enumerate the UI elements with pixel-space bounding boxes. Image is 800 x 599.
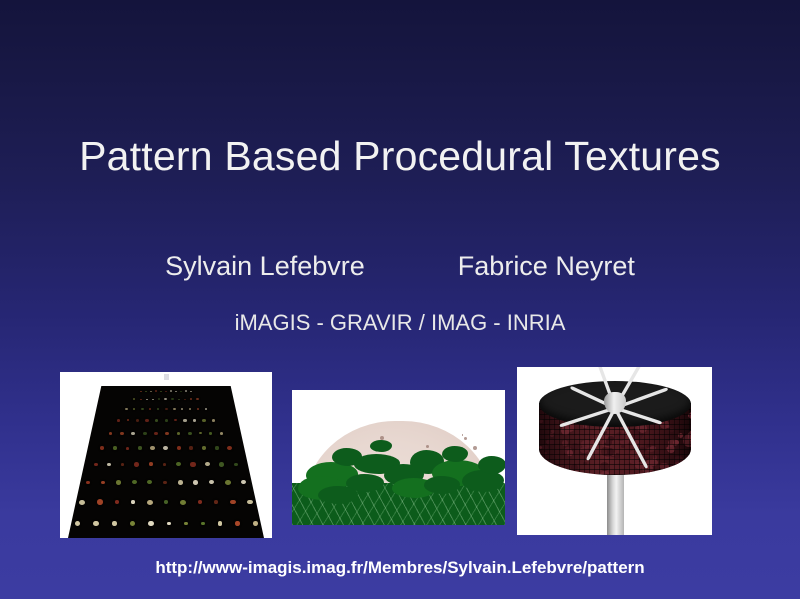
flower-blossom <box>75 521 81 527</box>
flower-row <box>68 498 264 506</box>
texture-blob <box>601 447 610 456</box>
texture-blob <box>603 439 607 443</box>
texture-blob <box>673 462 682 470</box>
flower-blossom <box>205 462 210 466</box>
texture-blob <box>603 471 607 474</box>
flower-blossom <box>155 390 157 392</box>
texture-blob <box>600 462 610 472</box>
flower-blossom <box>209 432 212 434</box>
flower-blossom <box>112 521 116 525</box>
flower-blossom <box>184 399 186 401</box>
vegetation-patch <box>442 446 468 462</box>
flower-blossom <box>212 419 215 422</box>
flower-blossom <box>134 462 139 466</box>
flower-blossom <box>220 432 223 435</box>
texture-blob <box>633 426 643 434</box>
flower-blossom <box>147 500 153 505</box>
texture-blob <box>688 430 691 442</box>
texture-blob <box>659 463 669 469</box>
flower-blossom <box>145 391 147 393</box>
flower-blossom <box>116 480 121 484</box>
texture-blob <box>609 452 616 457</box>
texture-blob <box>653 458 657 461</box>
texture-blob <box>583 462 587 466</box>
texture-blob <box>614 453 620 459</box>
flower-blossom <box>165 391 167 392</box>
texture-blob <box>621 445 625 448</box>
flower-blossom <box>163 446 168 450</box>
flower-blossom <box>234 463 238 466</box>
texture-blob <box>646 459 658 467</box>
texture-blob <box>539 446 542 449</box>
texture-blob <box>650 446 656 450</box>
flower-blossom <box>97 499 103 504</box>
flower-blossom <box>155 419 158 422</box>
texture-blob <box>668 444 673 447</box>
texture-blob <box>553 453 558 456</box>
flower-blossom <box>199 432 202 434</box>
flower-blossom <box>202 419 206 422</box>
flower-blossom <box>133 408 135 410</box>
texture-blob <box>647 447 655 453</box>
flower-blossom <box>189 408 192 410</box>
vegetation-patch <box>318 486 358 504</box>
texture-blob <box>667 471 670 474</box>
texture-blob <box>600 471 610 475</box>
flower-blossom <box>127 419 130 421</box>
flower-blossom <box>230 500 235 505</box>
texture-blob <box>544 452 548 456</box>
flower-blossom <box>175 391 177 393</box>
flower-blossom <box>146 399 148 401</box>
texture-blob <box>581 440 592 448</box>
flower-blossom <box>160 391 162 392</box>
texture-blob <box>646 444 652 448</box>
texture-blob <box>671 463 675 466</box>
texture-blob <box>666 425 669 428</box>
flower-blossom <box>178 480 183 484</box>
texture-blob <box>668 439 680 446</box>
flower-blossom <box>218 521 223 525</box>
flower-blossom <box>188 432 192 435</box>
texture-blob <box>561 426 570 435</box>
flower-blossom <box>190 391 192 393</box>
flower-blossom <box>94 463 98 466</box>
texture-blob <box>580 447 588 453</box>
flower-blossom <box>190 398 192 400</box>
presentation-slide: Pattern Based Procedural Textures Sylvai… <box>0 0 800 599</box>
slide-title: Pattern Based Procedural Textures <box>0 132 800 180</box>
flower-row <box>68 390 264 393</box>
flower-row <box>68 431 264 436</box>
flower-blossom <box>120 432 124 436</box>
flower-blossom <box>149 462 154 466</box>
flower-blossom <box>197 408 200 410</box>
flower-blossom <box>167 522 171 526</box>
flower-blossom <box>185 390 187 392</box>
flower-blossom <box>193 480 198 484</box>
texture-blob <box>675 461 679 465</box>
flower-blossom <box>247 500 253 505</box>
texture-blob <box>556 448 560 452</box>
texture-blob <box>571 464 578 471</box>
flower-blossom <box>147 480 152 484</box>
flower-blossom <box>176 462 181 466</box>
flower-blossom <box>235 521 239 525</box>
texture-blob <box>629 457 639 464</box>
flower-blossom <box>131 432 135 435</box>
texture-blob <box>539 419 543 422</box>
flower-blossom <box>140 399 142 401</box>
terrain-figure <box>292 390 505 525</box>
flower-blossom <box>177 432 180 435</box>
texture-blob <box>604 439 612 445</box>
author-name-second: Fabrice Neyret <box>458 251 635 281</box>
flower-blossom <box>180 391 182 392</box>
flower-blossom <box>157 408 160 410</box>
flower-blossom <box>227 446 232 450</box>
affiliation-line: iMAGIS - GRAVIR / IMAG - INRIA <box>0 310 800 336</box>
author-line: Sylvain Lefebvre Fabrice Neyret <box>0 250 800 282</box>
flower-blossom <box>117 419 121 422</box>
flower-blossom <box>154 432 157 435</box>
flower-ground-plane <box>68 386 264 538</box>
flower-blossom <box>165 419 168 422</box>
flower-blossom <box>205 408 208 410</box>
flower-blossom <box>214 500 218 504</box>
flower-blossom <box>193 419 196 421</box>
flower-blossom <box>150 391 152 393</box>
flower-blossom <box>150 446 155 450</box>
texture-blob <box>635 426 641 430</box>
flower-row <box>68 418 264 423</box>
flower-blossom <box>219 462 224 466</box>
flower-blossom <box>141 408 144 410</box>
flower-blossom <box>152 399 154 401</box>
flower-blossom <box>132 480 137 484</box>
texture-blob <box>605 453 611 457</box>
flower-blossom <box>143 432 147 436</box>
flower-blossom <box>149 408 151 410</box>
texture-blob <box>650 466 653 469</box>
flower-grid <box>68 386 264 538</box>
flower-blossom <box>171 398 174 400</box>
texture-blob <box>683 470 689 475</box>
flower-row <box>68 407 264 411</box>
flower-blossom <box>163 481 167 484</box>
texture-blob <box>608 436 615 441</box>
flower-blossom <box>133 398 135 400</box>
texture-blob <box>564 447 572 455</box>
project-url: http://www-imagis.imag.fr/Membres/Sylvai… <box>0 557 800 579</box>
flower-blossom <box>125 408 128 411</box>
texture-blob <box>669 428 673 432</box>
flower-blossom <box>174 419 177 421</box>
flower-blossom <box>196 398 199 400</box>
flower-blossom <box>86 481 90 484</box>
table-hub <box>604 392 626 414</box>
flower-blossom <box>138 446 142 449</box>
texture-blob <box>646 469 654 474</box>
flower-blossom <box>215 446 219 449</box>
flower-blossom <box>181 408 183 410</box>
flower-blossom <box>202 446 207 450</box>
texture-blob <box>688 412 690 419</box>
flower-blossom <box>178 399 180 401</box>
flower-row <box>68 445 264 451</box>
texture-blob <box>665 472 668 475</box>
flower-blossom <box>126 447 130 450</box>
flower-blossom <box>165 432 169 436</box>
flower-blossom <box>115 500 119 504</box>
flower-blossom <box>241 480 246 484</box>
texture-blob <box>546 439 555 445</box>
scene-marker-icon <box>164 374 169 380</box>
vegetation-patch <box>370 440 392 452</box>
texture-blob <box>653 455 658 460</box>
flower-blossom <box>131 500 135 504</box>
flower-blossom <box>145 419 149 422</box>
texture-blob <box>666 447 670 450</box>
flower-blossom <box>130 521 135 526</box>
texture-blob <box>631 460 635 462</box>
flower-blossom <box>163 463 167 466</box>
flower-blossom <box>253 521 258 526</box>
vegetation-patch <box>478 456 505 474</box>
texture-blob <box>567 450 572 456</box>
flower-blossom <box>164 398 167 400</box>
texture-blob <box>654 471 665 475</box>
flower-row <box>68 479 264 486</box>
flower-blossom <box>180 500 186 505</box>
flower-blossom <box>189 446 193 449</box>
flower-blossom <box>173 408 176 410</box>
flower-blossom <box>79 500 85 505</box>
flower-blossom <box>109 432 112 435</box>
flower-blossom <box>183 419 186 422</box>
texture-blob <box>568 469 579 475</box>
flower-blossom <box>165 408 168 411</box>
flower-blossom <box>201 522 205 526</box>
texture-blob <box>678 433 683 438</box>
texture-blob <box>683 434 691 447</box>
flower-row <box>68 519 264 527</box>
vegetation-patch <box>424 476 460 494</box>
texture-blob <box>550 433 554 437</box>
texture-blob <box>610 452 615 457</box>
texture-blob <box>603 452 611 459</box>
texture-blob <box>571 443 579 450</box>
flower-blossom <box>100 446 104 450</box>
texture-blob <box>602 439 610 448</box>
texture-blob <box>542 445 547 450</box>
texture-blob <box>673 456 684 467</box>
textured-table-figure <box>517 367 712 535</box>
flower-blossom <box>148 521 153 526</box>
flower-blossom <box>158 398 161 400</box>
author-name-first: Sylvain Lefebvre <box>165 251 365 281</box>
texture-blob <box>540 467 546 473</box>
flower-blossom <box>225 480 231 485</box>
flower-blossom <box>93 521 99 527</box>
flower-blossom <box>136 419 139 422</box>
texture-blob <box>615 432 626 441</box>
flower-blossom <box>101 481 106 485</box>
vegetation-layer <box>292 390 505 525</box>
flower-row <box>68 461 264 467</box>
flower-blossom <box>177 446 181 449</box>
flower-blossom <box>209 480 214 484</box>
flower-blossom <box>190 462 195 466</box>
flower-blossom <box>140 391 142 393</box>
flower-row <box>68 398 264 401</box>
flower-blossom <box>184 522 188 526</box>
texture-blob <box>565 447 574 455</box>
texture-blob <box>551 429 555 433</box>
flower-blossom <box>121 463 125 466</box>
texture-blob <box>607 448 614 456</box>
flower-blossom <box>198 500 202 504</box>
flower-field-figure <box>60 372 272 538</box>
flower-blossom <box>113 446 117 450</box>
texture-blob <box>656 450 667 457</box>
texture-blob <box>667 445 675 453</box>
flower-blossom <box>107 463 111 466</box>
table-top-surface <box>539 381 691 427</box>
texture-blob <box>673 440 679 445</box>
flower-blossom <box>164 500 168 503</box>
texture-blob <box>562 440 568 446</box>
flower-blossom <box>170 390 172 392</box>
